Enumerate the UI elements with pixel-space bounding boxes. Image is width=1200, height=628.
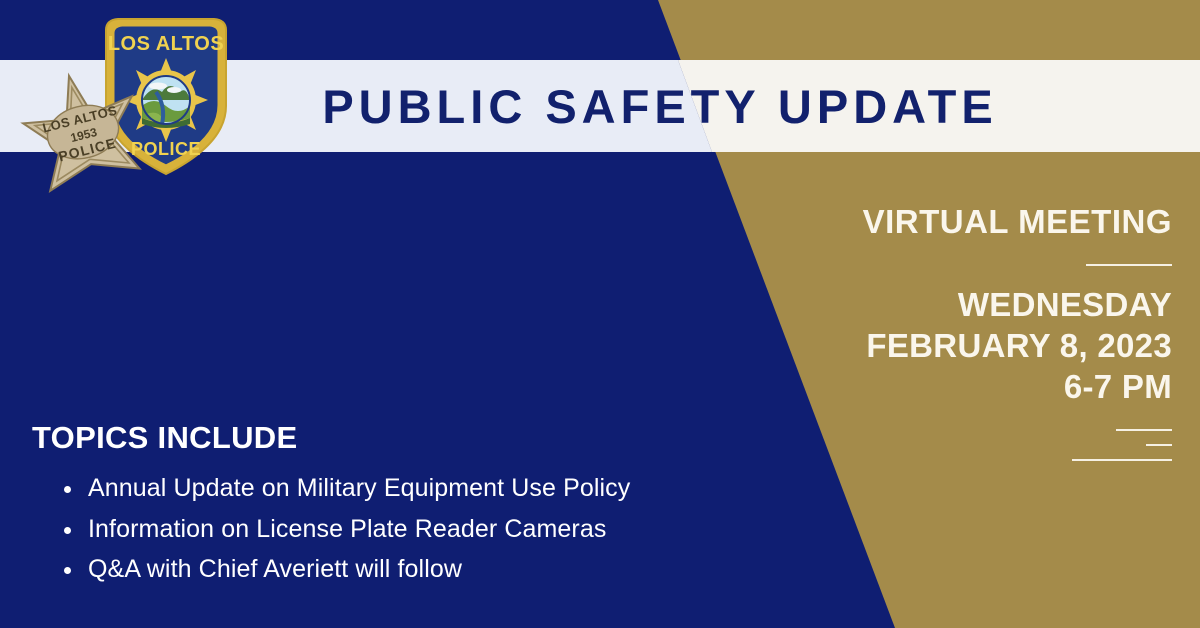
topics-heading: TOPICS INCLUDE [32,420,630,456]
divider-rule-group-bottom [752,429,1172,461]
list-item: Information on License Plate Reader Came… [62,509,630,550]
topic-text: Annual Update on Military Equipment Use … [88,474,630,502]
topic-text: Q&A with Chief Averiett will follow [88,555,462,583]
list-item: Annual Update on Military Equipment Use … [62,468,630,509]
los-altos-police-emblem: LOS ALTOS POLICE LOS ALTOS 1953 POLICE [18,14,238,184]
topics-section: TOPICS INCLUDE Annual Update on Military… [32,420,630,590]
divider-rule-1 [1116,429,1172,431]
bullet-icon [64,567,71,574]
topic-text: Information on License Plate Reader Came… [88,515,606,543]
divider-rule-2 [1146,444,1172,446]
meeting-details: VIRTUAL MEETING WEDNESDAY FEBRUARY 8, 20… [752,205,1172,461]
bullet-icon [64,486,71,493]
meeting-date: FEBRUARY 8, 2023 [752,325,1172,366]
bullet-icon [64,527,71,534]
meeting-day: WEDNESDAY [752,284,1172,325]
public-safety-update-poster: PUBLIC SAFETY UPDATE [0,0,1200,628]
divider-rule-3 [1072,459,1172,461]
topics-list: Annual Update on Military Equipment Use … [32,468,630,590]
divider-rule-top [1086,264,1172,266]
police-star-badge-icon: LOS ALTOS 1953 POLICE [18,72,150,200]
list-item: Q&A with Chief Averiett will follow [62,549,630,590]
meeting-datetime-group: WEDNESDAY FEBRUARY 8, 2023 6-7 PM [752,284,1172,408]
meeting-type-label: VIRTUAL MEETING [752,205,1172,240]
meeting-time: 6-7 PM [752,366,1172,407]
patch-top-label: LOS ALTOS [108,33,224,55]
